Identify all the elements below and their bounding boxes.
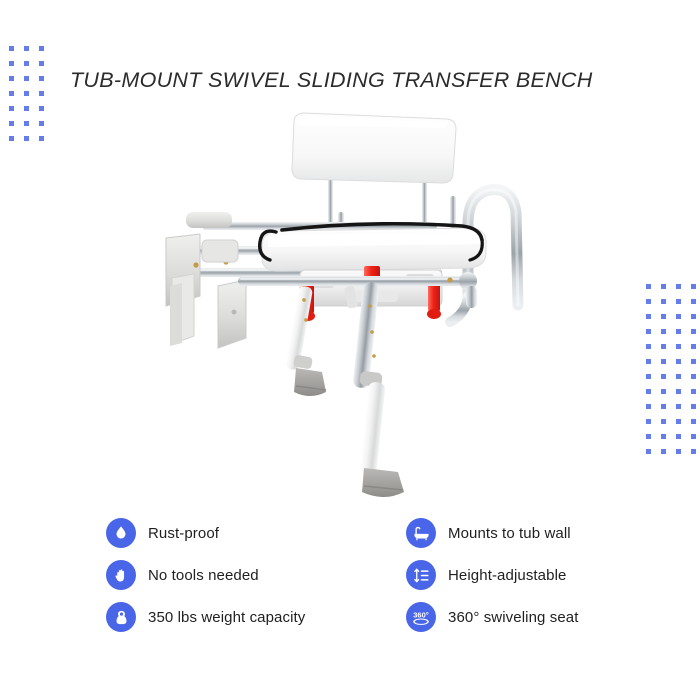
decorative-dot — [676, 374, 681, 379]
decorative-dot — [661, 299, 666, 304]
svg-text:360°: 360° — [413, 610, 428, 619]
decorative-dot — [39, 106, 44, 111]
decorative-dot — [646, 299, 651, 304]
infographic-page: TUB-MOUNT SWIVEL SLIDING TRANSFER BENCH — [0, 0, 700, 700]
decorative-dot — [39, 76, 44, 81]
decorative-dot — [24, 121, 29, 126]
decorative-dot — [646, 434, 651, 439]
decorative-dot — [661, 344, 666, 349]
decorative-dot — [39, 121, 44, 126]
decorative-dot — [9, 121, 14, 126]
decorative-dot — [9, 106, 14, 111]
decorative-dot — [39, 136, 44, 141]
decorative-dot — [9, 46, 14, 51]
decorative-dot — [646, 449, 651, 454]
decorative-dot — [676, 404, 681, 409]
page-title: TUB-MOUNT SWIVEL SLIDING TRANSFER BENCH — [70, 68, 593, 93]
decorative-dot — [691, 374, 696, 379]
decorative-dot — [9, 136, 14, 141]
decorative-dot — [676, 359, 681, 364]
decorative-dot — [676, 299, 681, 304]
decorative-dot — [39, 46, 44, 51]
decorative-dot — [691, 404, 696, 409]
decorative-dot — [661, 314, 666, 319]
hand-icon — [106, 560, 136, 590]
product-image — [150, 100, 550, 500]
decorative-dot — [691, 314, 696, 319]
decorative-dot — [691, 329, 696, 334]
feature-label: Mounts to tub wall — [448, 525, 571, 542]
telescoping-leg-front — [353, 281, 404, 497]
feature-label: 360° swiveling seat — [448, 609, 578, 626]
backrest — [292, 113, 456, 183]
decorative-dot — [691, 434, 696, 439]
decorative-dot — [646, 419, 651, 424]
decorative-dot — [691, 344, 696, 349]
decorative-dot — [676, 419, 681, 424]
decorative-dot — [661, 359, 666, 364]
decorative-dot — [646, 359, 651, 364]
feature-list: Rust-proof Mounts to tub wall No tools n… — [106, 512, 666, 638]
feature-weight-capacity: 350 lbs weight capacity — [106, 596, 406, 638]
decorative-dot — [9, 76, 14, 81]
decorative-dot — [661, 389, 666, 394]
kettlebell-icon — [106, 602, 136, 632]
bathtub-icon — [406, 518, 436, 548]
decorative-dot — [691, 419, 696, 424]
height-adjust-icon — [406, 560, 436, 590]
decorative-dot — [676, 389, 681, 394]
rotate-360-icon: 360° — [406, 602, 436, 632]
decorative-dot — [39, 91, 44, 96]
feature-rust-proof: Rust-proof — [106, 512, 406, 554]
decorative-dot — [24, 76, 29, 81]
decorative-dot — [24, 46, 29, 51]
decorative-dot — [24, 106, 29, 111]
decorative-dot — [676, 434, 681, 439]
decorative-dot — [661, 374, 666, 379]
decorative-dot — [676, 284, 681, 289]
feature-no-tools-needed: No tools needed — [106, 554, 406, 596]
decorative-dot — [676, 449, 681, 454]
decorative-dot — [646, 314, 651, 319]
decorative-dot — [24, 91, 29, 96]
decorative-dot — [661, 404, 666, 409]
water-drop-icon — [106, 518, 136, 548]
decorative-dot — [646, 284, 651, 289]
decorative-dot — [9, 61, 14, 66]
seat — [262, 228, 486, 271]
feature-label: Rust-proof — [148, 525, 219, 542]
decorative-dot — [676, 344, 681, 349]
decorative-dot — [24, 136, 29, 141]
decorative-dot — [646, 344, 651, 349]
feature-height-adjustable: Height-adjustable — [406, 554, 666, 596]
decorative-dot — [646, 404, 651, 409]
feature-label: 350 lbs weight capacity — [148, 609, 305, 626]
decorative-dot — [691, 359, 696, 364]
decorative-dot — [39, 61, 44, 66]
decorative-dot — [9, 91, 14, 96]
feature-label: No tools needed — [148, 567, 259, 584]
feature-label: Height-adjustable — [448, 567, 566, 584]
decorative-dot-grid-left — [0, 46, 54, 151]
decorative-dot — [646, 374, 651, 379]
decorative-dot — [661, 284, 666, 289]
decorative-dot — [691, 299, 696, 304]
right-support — [466, 286, 477, 308]
decorative-dot — [661, 329, 666, 334]
decorative-dot — [646, 389, 651, 394]
feature-mounts-to-tub-wall: Mounts to tub wall — [406, 512, 666, 554]
decorative-dot — [24, 61, 29, 66]
decorative-dot-grid-right — [646, 284, 700, 464]
tub-mount-brackets — [166, 212, 246, 348]
decorative-dot — [691, 449, 696, 454]
decorative-dot — [661, 449, 666, 454]
decorative-dot — [646, 329, 651, 334]
decorative-dot — [691, 284, 696, 289]
decorative-dot — [691, 389, 696, 394]
decorative-dot — [661, 419, 666, 424]
decorative-dot — [676, 314, 681, 319]
decorative-dot — [676, 329, 681, 334]
feature-360-swiveling-seat: 360° 360° swiveling seat — [406, 596, 666, 638]
decorative-dot — [661, 434, 666, 439]
